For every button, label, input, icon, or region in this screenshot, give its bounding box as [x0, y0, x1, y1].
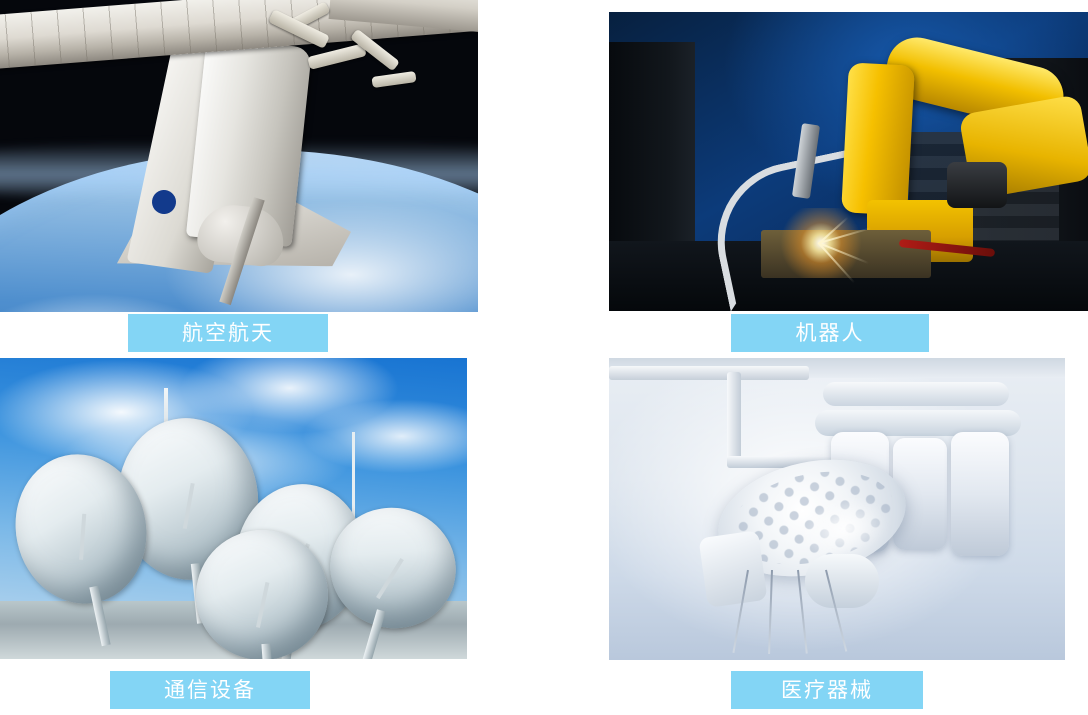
robot-lower-arm-shape: [841, 62, 915, 215]
thin-probes-shape: [737, 570, 867, 660]
robot-joint-shape: [947, 162, 1007, 208]
satellite-dish-shape: [192, 526, 333, 659]
caption-medical[interactable]: 医疗器械: [731, 671, 923, 709]
ceiling-boom-arm-shape: [609, 366, 809, 380]
robotic-arm-shape: [268, 16, 418, 126]
caption-communications[interactable]: 通信设备: [110, 671, 310, 709]
welding-spark-shape: [777, 208, 865, 278]
equipment-ring-upper-shape: [823, 382, 1009, 406]
caption-robotics[interactable]: 机器人: [731, 314, 929, 352]
aerospace-image[interactable]: [0, 0, 478, 312]
medical-image[interactable]: [609, 358, 1065, 660]
category-card-grid: 航空航天 机器人: [0, 0, 1088, 715]
caption-aerospace[interactable]: 航空航天: [128, 314, 328, 352]
communications-image[interactable]: [0, 358, 467, 659]
boom-vertical-column-shape: [727, 372, 741, 464]
robotics-image[interactable]: [609, 12, 1088, 311]
